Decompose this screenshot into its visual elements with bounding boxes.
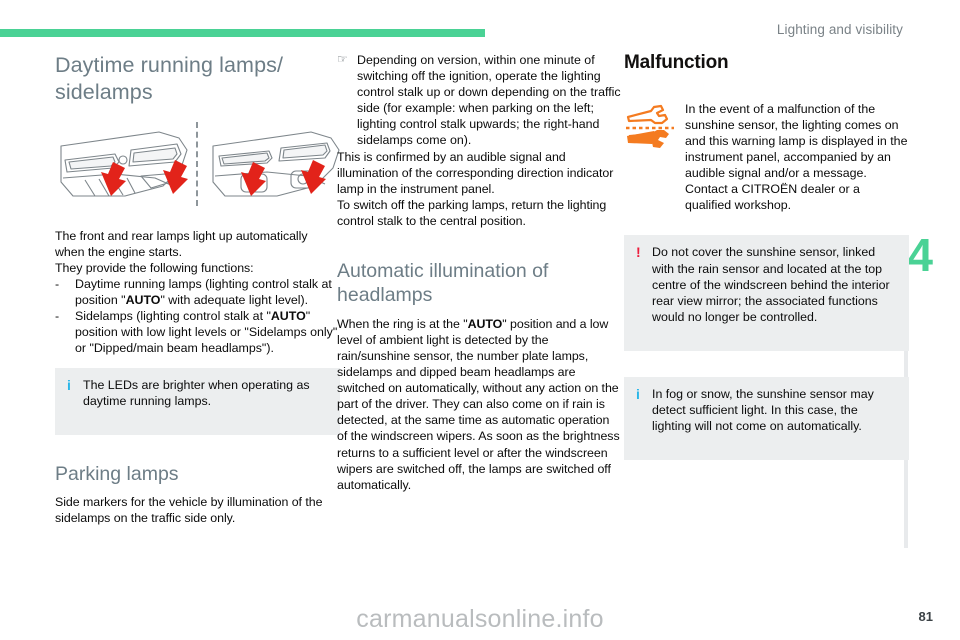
list-item-text-pre: Sidelamps (lighting control stalk at " bbox=[75, 309, 271, 323]
info-callout-text: In fog or snow, the sunshine sensor may … bbox=[652, 386, 897, 434]
left-paragraph-3: Side markers for the vehicle by illumina… bbox=[55, 494, 340, 526]
malfunction-heading: Malfunction bbox=[624, 52, 909, 75]
service-wrench-warning-icon bbox=[624, 101, 676, 154]
section-header-title: Lighting and visibility bbox=[777, 22, 903, 37]
list-item: -Daytime running lamps (lighting control… bbox=[55, 276, 340, 308]
column-right: Malfunction In the event of a malfunctio… bbox=[624, 52, 909, 460]
list-item-text-bold: AUTO bbox=[271, 309, 306, 323]
column-left: Daytime running lamps/ sidelamps bbox=[55, 52, 340, 526]
info-callout-leds: i The LEDs are brighter when operating a… bbox=[55, 368, 340, 435]
list-item: ☞Depending on version, within one minute… bbox=[337, 52, 622, 149]
middle-body-bold: AUTO bbox=[468, 317, 503, 331]
warning-callout-sunshine-sensor: ! Do not cover the sunshine sensor, link… bbox=[624, 235, 909, 350]
parking-lamps-heading: Parking lamps bbox=[55, 462, 340, 486]
figure-dashed-divider bbox=[196, 122, 198, 206]
middle-paragraph-2: To switch off the parking lamps, return … bbox=[337, 197, 622, 229]
middle-body-pre: When the ring is at the " bbox=[337, 317, 468, 331]
chapter-accent-rule bbox=[0, 29, 485, 37]
list-dash: - bbox=[55, 276, 59, 292]
chapter-number-tab: 4 bbox=[907, 232, 933, 278]
pointing-hand-icon: ☞ bbox=[337, 51, 348, 67]
function-list: -Daytime running lamps (lighting control… bbox=[55, 276, 340, 356]
column-middle: ☞Depending on version, within one minute… bbox=[337, 52, 622, 493]
site-watermark: carmanualsonline.info bbox=[0, 605, 960, 634]
malfunction-description: In the event of a malfunction of the sun… bbox=[685, 101, 909, 214]
info-icon: i bbox=[636, 386, 652, 402]
left-paragraph-1: The front and rear lamps light up automa… bbox=[55, 228, 340, 260]
middle-body-text: When the ring is at the "AUTO" position … bbox=[337, 316, 622, 493]
daytime-running-lamp-figure bbox=[55, 116, 340, 216]
list-dash: - bbox=[55, 308, 59, 324]
middle-paragraph-1: This is confirmed by an audible signal a… bbox=[337, 149, 622, 197]
malfunction-block: In the event of a malfunction of the sun… bbox=[624, 101, 909, 214]
list-item: -Sidelamps (lighting control stalk at "A… bbox=[55, 308, 340, 356]
list-item-text-bold: AUTO bbox=[126, 293, 161, 307]
page-number: 81 bbox=[919, 609, 933, 624]
info-callout-text: The LEDs are brighter when operating as … bbox=[83, 377, 328, 409]
middle-body-post: " position and a low level of ambient li… bbox=[337, 317, 620, 492]
info-callout-fog-snow: i In fog or snow, the sunshine sensor ma… bbox=[624, 377, 909, 460]
annotation-arrow bbox=[241, 160, 326, 196]
list-item-text: Depending on version, within one minute … bbox=[357, 53, 621, 147]
automatic-illumination-heading: Automatic illumination of headlamps bbox=[337, 259, 622, 308]
page-title: Daytime running lamps/ sidelamps bbox=[55, 52, 340, 106]
procedure-list: ☞Depending on version, within one minute… bbox=[337, 52, 622, 149]
service-wrench-warning-icon-svg bbox=[624, 103, 676, 149]
info-icon: i bbox=[67, 377, 83, 393]
list-item-text-post: " with adequate light level). bbox=[160, 293, 308, 307]
warning-callout-text: Do not cover the sunshine sensor, linked… bbox=[652, 244, 897, 324]
left-paragraph-2: They provide the following functions: bbox=[55, 260, 340, 276]
warning-icon: ! bbox=[636, 244, 652, 260]
